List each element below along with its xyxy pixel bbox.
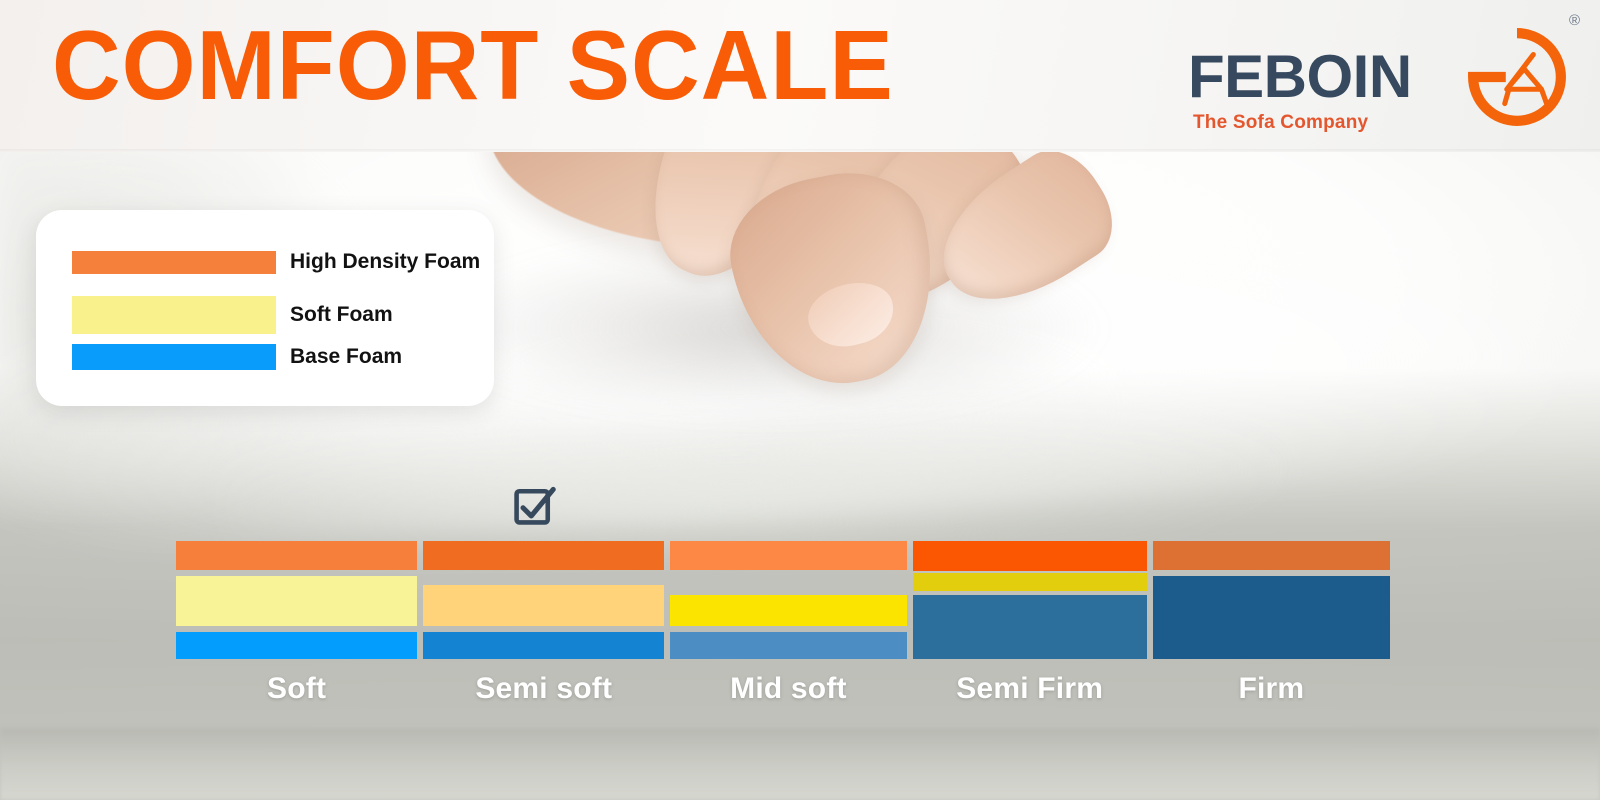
pillow-bottom-edge xyxy=(0,728,1600,800)
legend-label-base-foam: Base Foam xyxy=(290,345,402,369)
legend-swatch-high-density-foam xyxy=(72,251,276,274)
scale-label-firm: Firm xyxy=(1153,672,1390,720)
scale-label-mid-soft: Mid soft xyxy=(670,672,906,720)
scale-label-semi-soft: Semi soft xyxy=(423,672,664,720)
foam-layer-high-density-foam xyxy=(1153,541,1390,570)
foam-layer-high-density-foam xyxy=(176,541,417,570)
brand-logo: FEBOIN The Sofa Company ® xyxy=(1188,24,1578,142)
brand-tagline: The Sofa Company xyxy=(1193,112,1368,134)
foam-layer-soft-foam xyxy=(176,576,417,626)
legend-item-soft-foam: Soft Foam xyxy=(72,296,393,334)
foam-layer-high-density-foam xyxy=(423,541,664,570)
legend-swatch-soft-foam xyxy=(72,296,276,334)
foam-layer-soft-foam xyxy=(913,573,1147,591)
foam-layer-soft-foam xyxy=(670,595,906,626)
foam-layer-high-density-foam xyxy=(913,541,1147,571)
foam-layer-soft-foam xyxy=(423,585,664,626)
scale-column-soft[interactable] xyxy=(176,538,417,662)
foam-layer-base-foam xyxy=(913,595,1147,659)
checkbox-checked-icon xyxy=(512,483,556,527)
header-band: COMFORT SCALE FEBOIN The Sofa Company ® xyxy=(0,0,1600,152)
scale-label-semi-firm: Semi Firm xyxy=(913,672,1147,720)
legend-item-high-density-foam: High Density Foam xyxy=(72,250,480,274)
chair-in-circle-icon xyxy=(1466,26,1568,128)
foam-layer-base-foam xyxy=(176,632,417,659)
legend-label-high-density-foam: High Density Foam xyxy=(290,250,480,274)
scale-column-semi-firm[interactable] xyxy=(913,538,1147,662)
comfort-scale-bars xyxy=(176,538,1390,662)
foam-layer-base-foam xyxy=(423,632,664,659)
scale-column-firm[interactable] xyxy=(1153,538,1390,662)
legend-swatch-base-foam xyxy=(72,344,276,370)
legend-card: High Density Foam Soft Foam Base Foam xyxy=(36,210,494,406)
comfort-scale-labels: SoftSemi softMid softSemi FirmFirm xyxy=(176,672,1390,720)
legend-label-soft-foam: Soft Foam xyxy=(290,303,393,327)
comfort-scale-infographic: COMFORT SCALE FEBOIN The Sofa Company ® … xyxy=(0,0,1600,800)
legend-item-base-foam: Base Foam xyxy=(72,344,402,370)
scale-column-mid-soft[interactable] xyxy=(670,538,906,662)
foam-layer-base-foam xyxy=(1153,576,1390,659)
brand-name: FEBOIN xyxy=(1188,42,1412,111)
foam-layer-high-density-foam xyxy=(670,541,906,570)
scale-column-semi-soft[interactable] xyxy=(423,538,664,662)
scale-label-soft: Soft xyxy=(176,672,417,720)
registered-trademark-mark: ® xyxy=(1569,12,1580,29)
page-title: COMFORT SCALE xyxy=(52,16,894,114)
foam-layer-base-foam xyxy=(670,632,906,659)
